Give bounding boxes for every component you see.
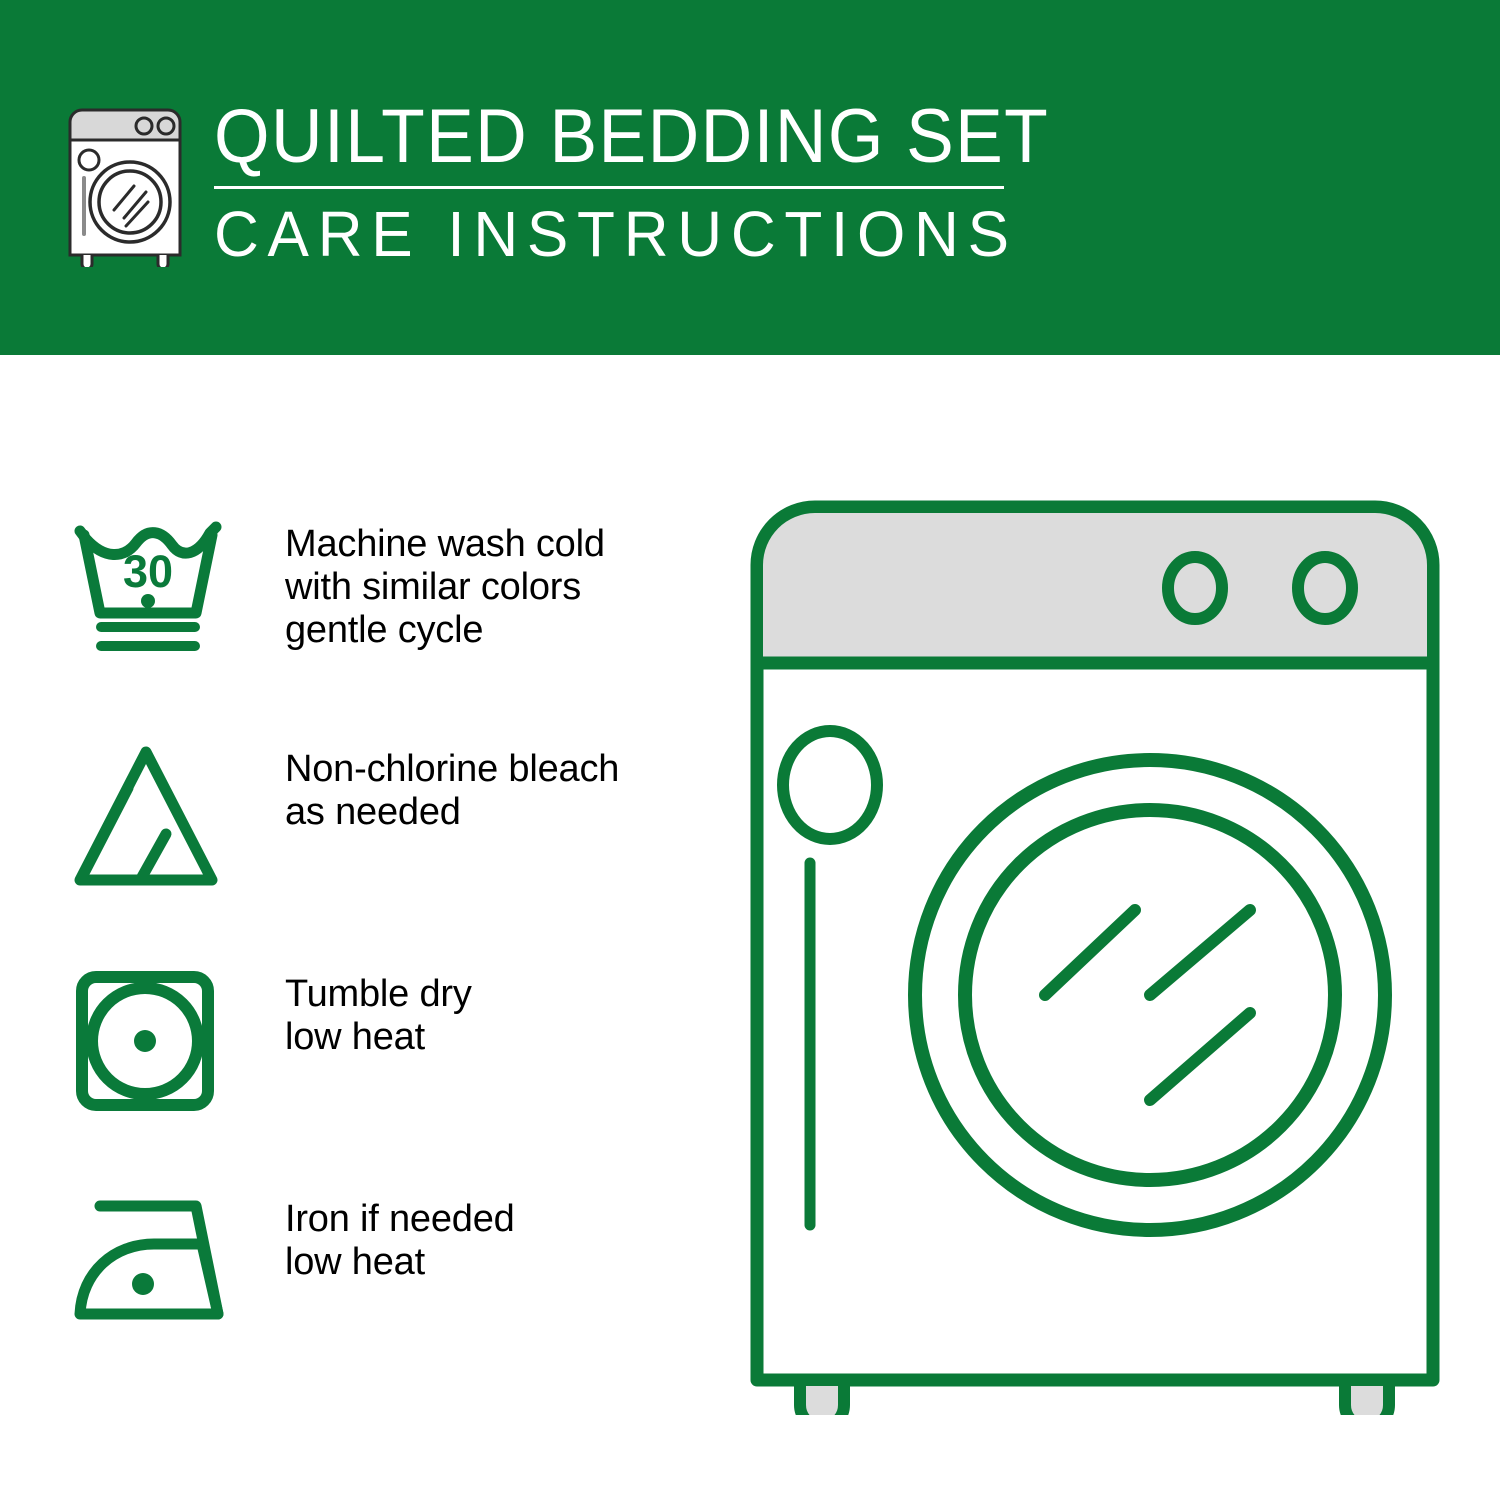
front-load-washing-machine-illustration [745, 495, 1445, 1415]
leg-right [1345, 1380, 1389, 1415]
page-subtitle: CARE INSTRUCTIONS [214, 199, 1076, 269]
title-divider [214, 186, 1004, 189]
wash-tub-30-gentle-icon: 30 [70, 517, 225, 662]
iron-low-heat-icon [70, 1192, 235, 1327]
leg-left [800, 1380, 844, 1415]
header-banner: QUILTED BEDDING SET CARE INSTRUCTIONS [0, 0, 1500, 355]
care-symbol-slot [70, 730, 235, 892]
care-symbol-slot [70, 1180, 235, 1327]
knob-right[interactable] [1298, 557, 1352, 619]
tumble-dry-low-heat-icon [70, 967, 225, 1117]
care-instruction-label: Machine wash cold with similar colors ge… [285, 505, 605, 652]
care-symbol-slot [70, 955, 235, 1117]
header-content: QUILTED BEDDING SET CARE INSTRUCTIONS [62, 96, 1103, 269]
care-instruction-label: Non-chlorine bleach as needed [285, 730, 619, 834]
gentle-bar-1 [96, 622, 200, 632]
washing-machine-icon [62, 102, 192, 267]
knob-left[interactable] [1168, 557, 1222, 619]
gentle-dot [141, 594, 155, 608]
bleach-stripe-1 [82, 788, 128, 877]
care-instruction-label: Iron if needed low heat [285, 1180, 515, 1284]
care-instruction-row: Non-chlorine bleach as needed [70, 730, 710, 955]
care-instruction-list: 30 Machine wash cold with similar colors… [70, 505, 710, 1405]
non-chlorine-bleach-triangle-icon [70, 742, 225, 892]
wash-temperature-label: 30 [123, 546, 173, 597]
header-title-group: QUILTED BEDDING SET CARE INSTRUCTIONS [214, 96, 1103, 269]
care-instruction-label: Tumble dry low heat [285, 955, 472, 1059]
care-instruction-row: 30 Machine wash cold with similar colors… [70, 505, 710, 730]
low-heat-dot [134, 1030, 156, 1052]
page-title: QUILTED BEDDING SET [214, 96, 1049, 178]
care-instruction-row: Tumble dry low heat [70, 955, 710, 1180]
gentle-bar-2 [96, 641, 200, 651]
detergent-drawer-circle[interactable] [783, 731, 877, 839]
care-instruction-row: Iron if needed low heat [70, 1180, 710, 1405]
care-symbol-slot: 30 [70, 505, 235, 662]
low-heat-dot [132, 1273, 154, 1295]
bleach-stripe-2 [142, 834, 166, 877]
